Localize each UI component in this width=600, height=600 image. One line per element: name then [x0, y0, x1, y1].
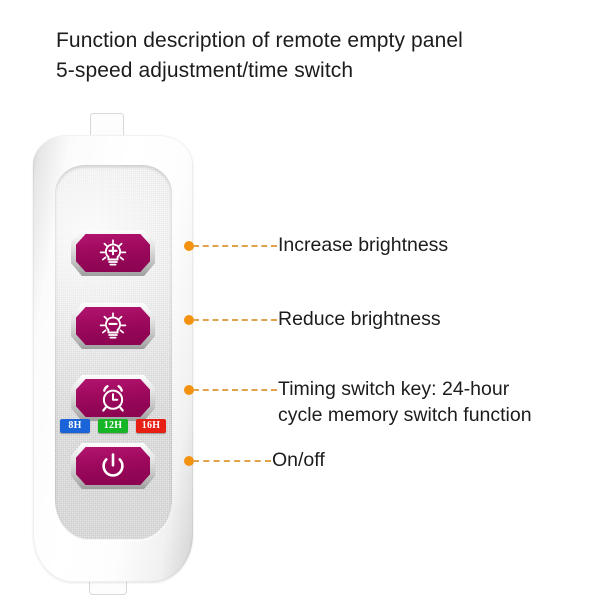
title-line-1: Function description of remote empty pan… — [56, 26, 576, 56]
callout-label-on-off: On/off — [272, 447, 325, 473]
remote-control-device: 8H 12H 16H — [33, 135, 193, 582]
page-title: Function description of remote empty pan… — [56, 26, 576, 86]
button-increase-brightness[interactable] — [71, 230, 155, 276]
timer-badge-16h: 16H — [136, 419, 166, 433]
callout-dash-line — [193, 319, 277, 321]
callout-label-timing-switch-line1: Timing switch key: 24-hour — [278, 376, 509, 402]
callout-dash-line — [193, 389, 277, 391]
button-cap — [76, 447, 150, 485]
callout-label-reduce-brightness: Reduce brightness — [278, 306, 441, 332]
brightness-increase-icon — [96, 237, 130, 269]
timer-badge-8h: 8H — [60, 419, 90, 433]
timer-badge-12h: 12H — [98, 419, 128, 433]
timer-indicator-row: 8H 12H 16H — [60, 419, 166, 433]
power-icon — [98, 451, 128, 481]
alarm-clock-icon — [97, 383, 129, 414]
button-cap — [76, 307, 150, 345]
callout-dash-line — [193, 245, 277, 247]
button-timing-switch[interactable] — [71, 375, 155, 421]
button-reduce-brightness[interactable] — [71, 303, 155, 349]
button-power[interactable] — [71, 443, 155, 489]
button-cap — [76, 379, 150, 417]
brightness-decrease-icon — [96, 310, 130, 342]
button-cap — [76, 234, 150, 272]
callout-label-increase-brightness: Increase brightness — [278, 232, 448, 258]
title-line-2: 5-speed adjustment/time switch — [56, 56, 576, 86]
callout-dash-line — [193, 460, 271, 462]
callout-label-timing-switch-line2: cycle memory switch function — [278, 402, 532, 428]
